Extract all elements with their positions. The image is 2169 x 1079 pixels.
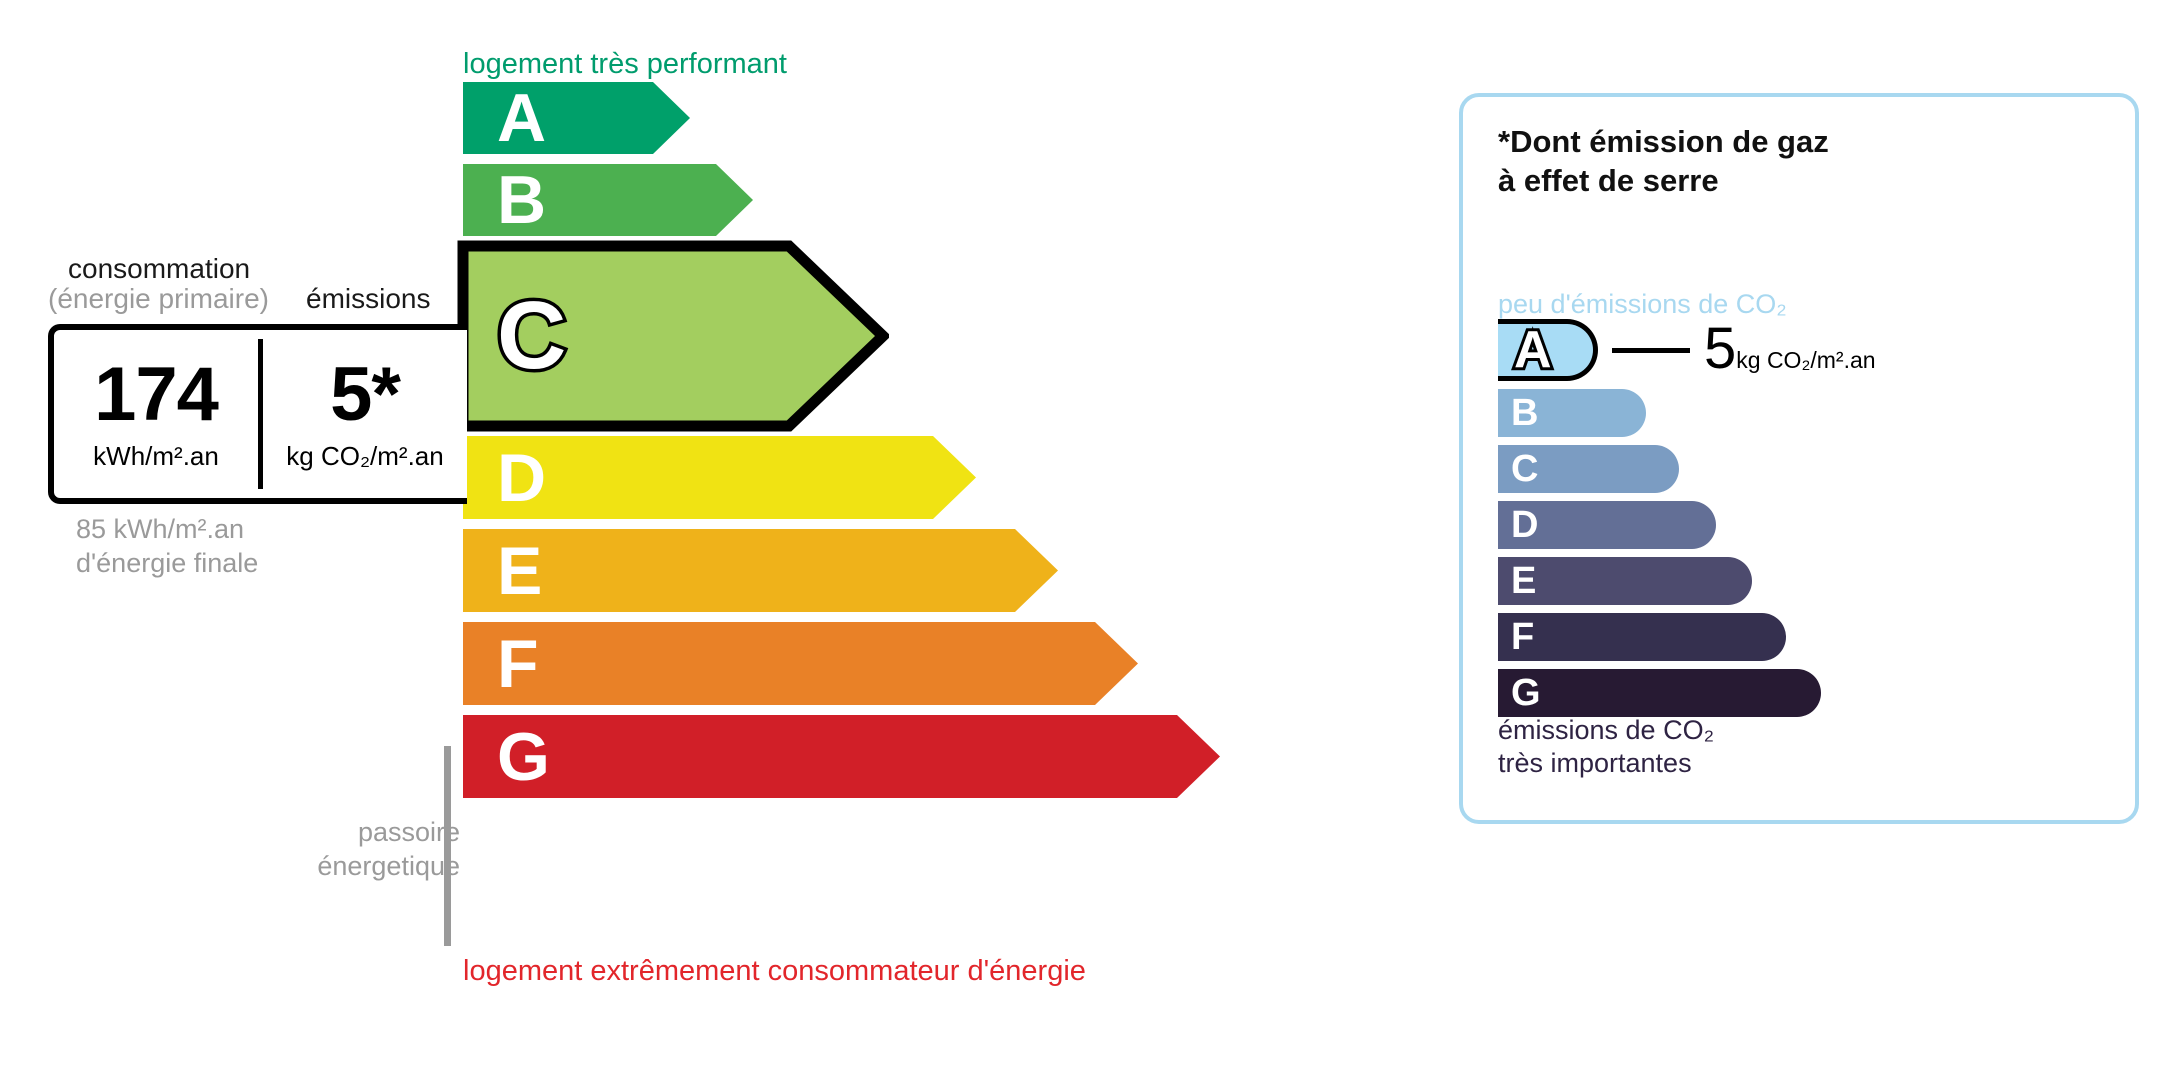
- co2-band-letter-B: B: [1511, 394, 1538, 432]
- co2-bottom-caption: émissions de CO₂très importantes: [1498, 714, 1714, 780]
- energy-band-F[interactable]: F: [463, 622, 1138, 705]
- energy-band-shape-F: [463, 622, 1138, 705]
- passoire-energetique-label: passoireénergetique: [270, 816, 460, 884]
- co2-band-F[interactable]: F: [1498, 613, 1786, 661]
- energy-band-letter-A: A: [497, 84, 546, 152]
- energy-band-A[interactable]: A: [463, 82, 690, 154]
- energy-band-shape-E: [463, 529, 1058, 612]
- co2-band-shape-F: [1498, 613, 1786, 661]
- co2-band-letter-E: E: [1511, 562, 1536, 600]
- co2-band-D[interactable]: D: [1498, 501, 1716, 549]
- emission-value-cell: 5* kg CO₂/m².an: [263, 357, 467, 472]
- co2-top-caption: peu d'émissions de CO₂: [1498, 289, 1787, 320]
- energy-band-letter-B: B: [497, 166, 546, 234]
- consumption-unit: kWh/m².an: [54, 441, 258, 472]
- energy-band-D[interactable]: D: [463, 436, 976, 519]
- value-box: 174 kWh/m².an 5* kg CO₂/m².an: [48, 324, 467, 504]
- consumption-value: 174: [54, 357, 258, 433]
- energie-primaire-label: (énergie primaire): [48, 283, 269, 315]
- energie-finale-label: 85 kWh/m².and'énergie finale: [76, 513, 258, 581]
- energy-band-B[interactable]: B: [463, 164, 753, 236]
- energy-band-E[interactable]: E: [463, 529, 1058, 612]
- co2-band-B[interactable]: B: [1498, 389, 1646, 437]
- energy-top-caption: logement très performant: [463, 48, 787, 81]
- energy-band-letter-F: F: [497, 630, 539, 698]
- energy-band-letter-G: G: [497, 723, 550, 791]
- co2-band-letter-G: G: [1511, 674, 1541, 712]
- consumption-value-cell: 174 kWh/m².an: [54, 357, 258, 472]
- consommation-label: consommation: [68, 253, 250, 285]
- energy-consumption-chart: logement très performant ABCDEFG consomm…: [0, 0, 1400, 1079]
- emission-value: 5*: [263, 357, 467, 433]
- co2-value-group: 5kg CO₂/m².an: [1704, 320, 1876, 378]
- co2-band-letter-C: C: [1511, 450, 1538, 488]
- co2-panel: *Dont émission de gazà effet de serre pe…: [1459, 93, 2139, 824]
- energy-band-G[interactable]: G: [463, 715, 1220, 798]
- dpe-label: logement très performant ABCDEFG consomm…: [0, 0, 2169, 1079]
- emission-unit: kg CO₂/m².an: [263, 441, 467, 472]
- energy-band-letter-E: E: [497, 537, 542, 605]
- co2-band-shape-G: [1498, 669, 1821, 717]
- co2-band-C[interactable]: C: [1498, 445, 1679, 493]
- energy-band-C[interactable]: C: [463, 246, 883, 426]
- energy-band-shape-G: [463, 715, 1220, 798]
- energy-bottom-caption: logement extrêmement consommateur d'éner…: [463, 955, 1086, 988]
- co2-band-A[interactable]: A: [1498, 319, 1598, 381]
- co2-value-number: 5: [1704, 316, 1736, 381]
- emissions-label: émissions: [306, 283, 430, 315]
- co2-value-unit: kg CO₂/m².an: [1736, 347, 1875, 373]
- co2-band-letter-F: F: [1511, 618, 1534, 656]
- co2-band-letter-D: D: [1511, 506, 1538, 544]
- co2-band-letter-A: A: [1514, 324, 1552, 376]
- co2-panel-title: *Dont émission de gazà effet de serre: [1498, 123, 1829, 201]
- co2-band-G[interactable]: G: [1498, 669, 1821, 717]
- energy-band-letter-C: C: [497, 288, 566, 384]
- co2-band-E[interactable]: E: [1498, 557, 1752, 605]
- energy-band-letter-D: D: [497, 444, 546, 512]
- co2-leader-line: [1612, 348, 1690, 353]
